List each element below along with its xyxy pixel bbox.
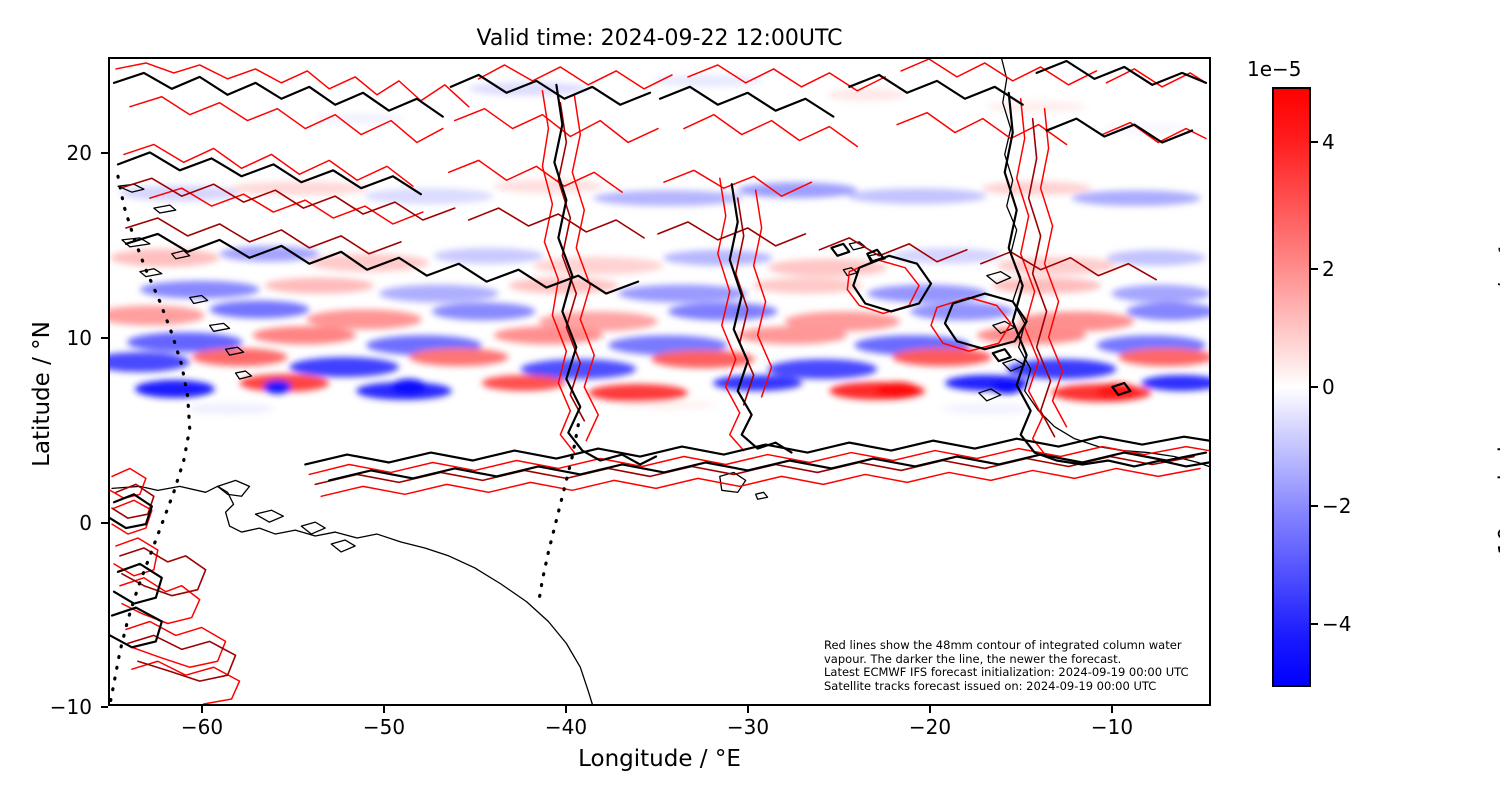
x-tick-label: −30	[727, 716, 769, 738]
x-tick-label: −40	[545, 716, 587, 738]
y-tick-mark	[101, 706, 108, 708]
colorbar-tick-label: 0	[1322, 376, 1335, 398]
colorbar-track[interactable]	[1272, 87, 1311, 687]
colorbar-tick-label: −2	[1322, 495, 1351, 517]
x-tick-label: −20	[909, 716, 951, 738]
y-tick-label: 20	[30, 142, 92, 164]
y-tick-mark	[101, 337, 108, 339]
x-tick-mark	[201, 706, 203, 713]
x-tick-label: −50	[363, 716, 405, 738]
colorbar-exponent-label: 1e−5	[1247, 58, 1302, 80]
y-tick-label: −10	[30, 696, 92, 718]
map-plot-area[interactable]: Red lines show the 48mm contour of integ…	[108, 57, 1211, 706]
colorbar-axis-label: 10m wind convergence / s⁻¹	[1496, 120, 1500, 680]
x-tick-label: −10	[1091, 716, 1133, 738]
x-axis-label: Longitude / °E	[108, 746, 1211, 772]
x-tick-mark	[383, 706, 385, 713]
map-svg	[110, 59, 1209, 704]
figure-canvas: Valid time: 2024-09-22 12:00UTC	[0, 0, 1500, 800]
colorbar-tick-label: −4	[1322, 613, 1351, 635]
colorbar-tick-mark	[1311, 268, 1318, 270]
page-title: Valid time: 2024-09-22 12:00UTC	[108, 26, 1211, 52]
y-tick-mark	[101, 152, 108, 154]
colorbar-tick-mark	[1311, 505, 1318, 507]
colorbar-tick-label: 2	[1322, 258, 1335, 280]
y-tick-mark	[101, 522, 108, 524]
colorbar-tick-label: 4	[1322, 131, 1335, 153]
colorbar-tick-mark	[1311, 386, 1318, 388]
colorbar-gradient	[1272, 87, 1311, 687]
x-tick-mark	[1111, 706, 1113, 713]
colorbar-tick-mark	[1311, 141, 1318, 143]
x-tick-mark	[929, 706, 931, 713]
x-tick-mark	[565, 706, 567, 713]
x-tick-label: −60	[181, 716, 223, 738]
y-axis-label: Latitude / °N	[29, 244, 55, 544]
x-tick-mark	[747, 706, 749, 713]
colorbar-tick-mark	[1311, 623, 1318, 625]
